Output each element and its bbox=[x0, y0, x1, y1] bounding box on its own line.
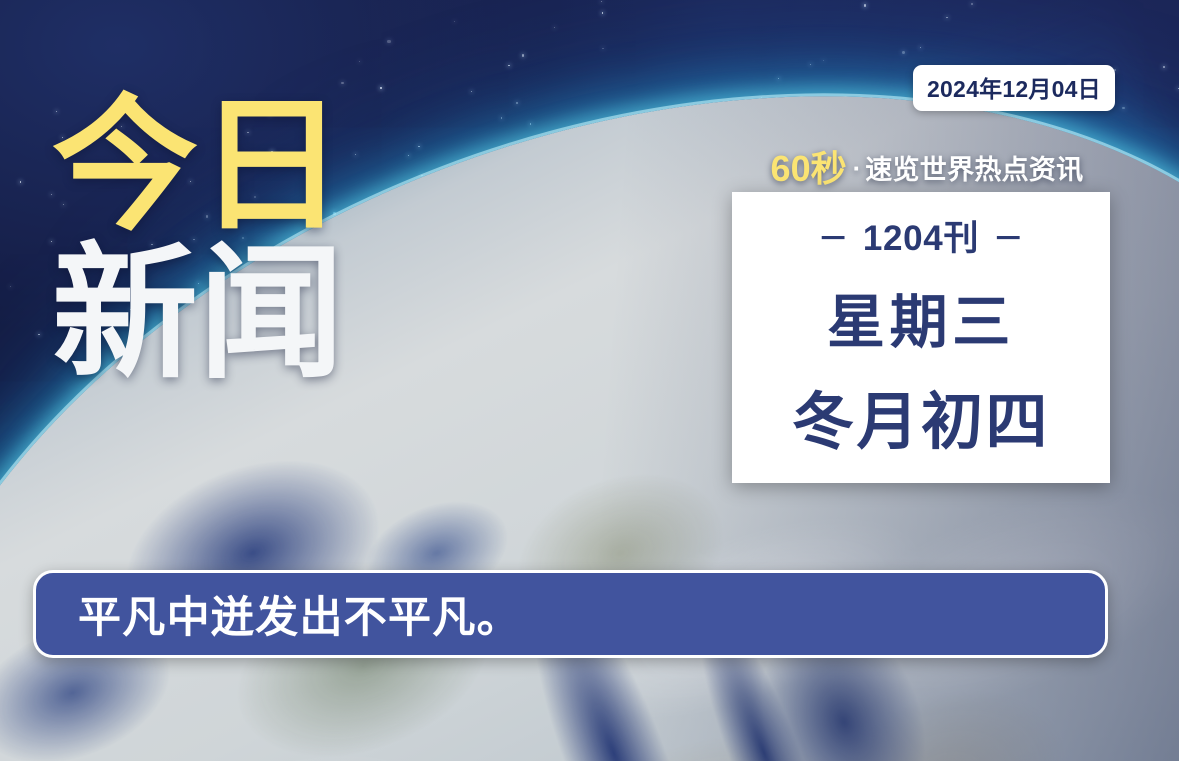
tagline: 60秒·速览世界热点资讯 bbox=[742, 140, 1112, 192]
dash-left-icon: － bbox=[818, 214, 849, 258]
tagline-separator-dot: · bbox=[853, 153, 862, 183]
date-badge: 2024年12月04日 bbox=[913, 65, 1115, 111]
tagline-subtitle: 速览世界热点资讯 bbox=[865, 155, 1083, 185]
date-info-card: － 1204刊 － 星期三 冬月初四 bbox=[732, 192, 1110, 483]
poster-title: 今日 新闻 bbox=[52, 96, 345, 384]
news-poster: 今日 新闻 2024年12月04日 60秒·速览世界热点资讯 － 1204刊 －… bbox=[0, 0, 1179, 761]
dash-right-icon: － bbox=[993, 214, 1024, 258]
tagline-seconds: 60秒 bbox=[771, 148, 847, 189]
lunar-date-label: 冬月初四 bbox=[792, 371, 1050, 461]
title-line-news: 新闻 bbox=[52, 244, 345, 384]
slogan-banner: 平凡中迸发出不平凡。 bbox=[33, 570, 1108, 658]
issue-number: 1204刊 bbox=[863, 210, 979, 261]
issue-number-row: － 1204刊 － bbox=[818, 210, 1024, 261]
slogan-text: 平凡中迸发出不平凡。 bbox=[78, 583, 521, 645]
weekday-label: 星期三 bbox=[827, 275, 1015, 359]
title-line-today: 今日 bbox=[52, 96, 345, 236]
